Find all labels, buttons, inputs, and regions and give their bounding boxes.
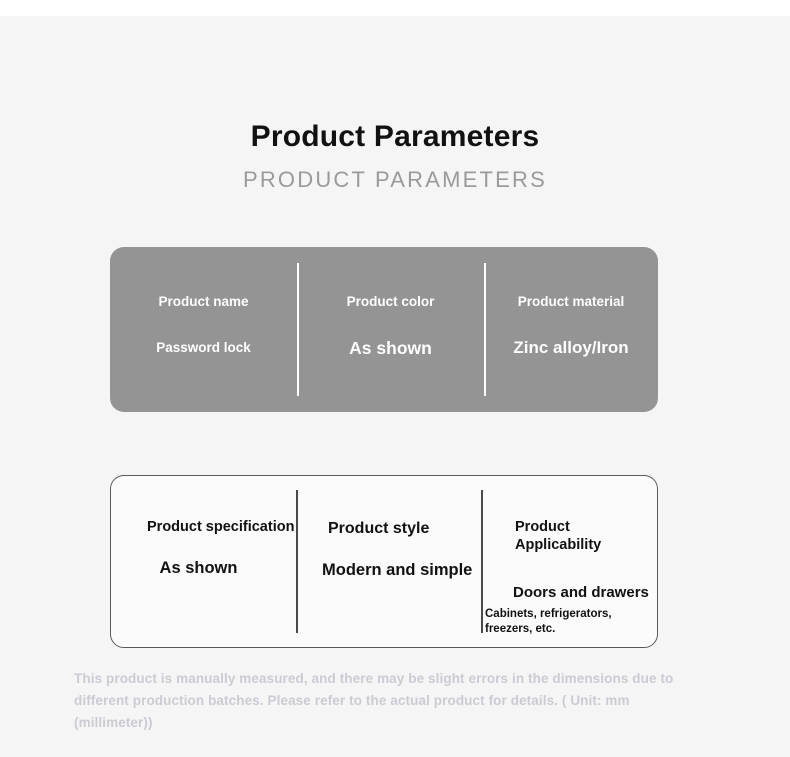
spec-label: Product specification bbox=[111, 518, 296, 536]
page-title: Product Parameters bbox=[0, 119, 790, 155]
spec-label: Product material bbox=[484, 293, 658, 311]
spec-value: Modern and simple bbox=[296, 560, 481, 581]
spec-column-product-material: Product material Zinc alloy/Iron bbox=[484, 247, 658, 412]
spec-columns-secondary: Product specification As shown Product s… bbox=[111, 476, 657, 647]
page-subtitle: PRODUCT PARAMETERS bbox=[0, 167, 790, 193]
spec-value: Doors and drawers bbox=[481, 582, 657, 603]
spec-panel-primary: Product name Password lock Product color… bbox=[110, 247, 658, 412]
spec-column-product-color: Product color As shown bbox=[297, 247, 484, 412]
measurement-disclaimer: This product is manually measured, and t… bbox=[74, 668, 706, 734]
spec-columns-primary: Product name Password lock Product color… bbox=[110, 247, 658, 412]
spec-label: Product name bbox=[110, 293, 297, 311]
spec-column-product-specification: Product specification As shown bbox=[111, 476, 296, 647]
spec-column-product-applicability: Product Applicability Doors and drawers … bbox=[481, 476, 657, 647]
spec-value: Password lock bbox=[110, 337, 297, 359]
product-parameters-page: Product Parameters PRODUCT PARAMETERS Pr… bbox=[0, 0, 790, 757]
spec-panel-secondary: Product specification As shown Product s… bbox=[110, 475, 658, 648]
spec-label: Product color bbox=[297, 293, 484, 311]
spec-label: Product Applicability bbox=[481, 518, 657, 554]
spec-value: As shown bbox=[297, 337, 484, 359]
spec-column-product-style: Product style Modern and simple bbox=[296, 476, 481, 647]
page-background: Product Parameters PRODUCT PARAMETERS Pr… bbox=[0, 16, 790, 757]
spec-value: Zinc alloy/Iron bbox=[484, 337, 658, 359]
spec-note: Cabinets, refrigerators, freezers, etc. bbox=[481, 607, 657, 637]
heading-block: Product Parameters PRODUCT PARAMETERS bbox=[0, 119, 790, 193]
spec-value: As shown bbox=[111, 558, 296, 579]
spec-column-product-name: Product name Password lock bbox=[110, 247, 297, 412]
spec-label: Product style bbox=[296, 520, 481, 538]
